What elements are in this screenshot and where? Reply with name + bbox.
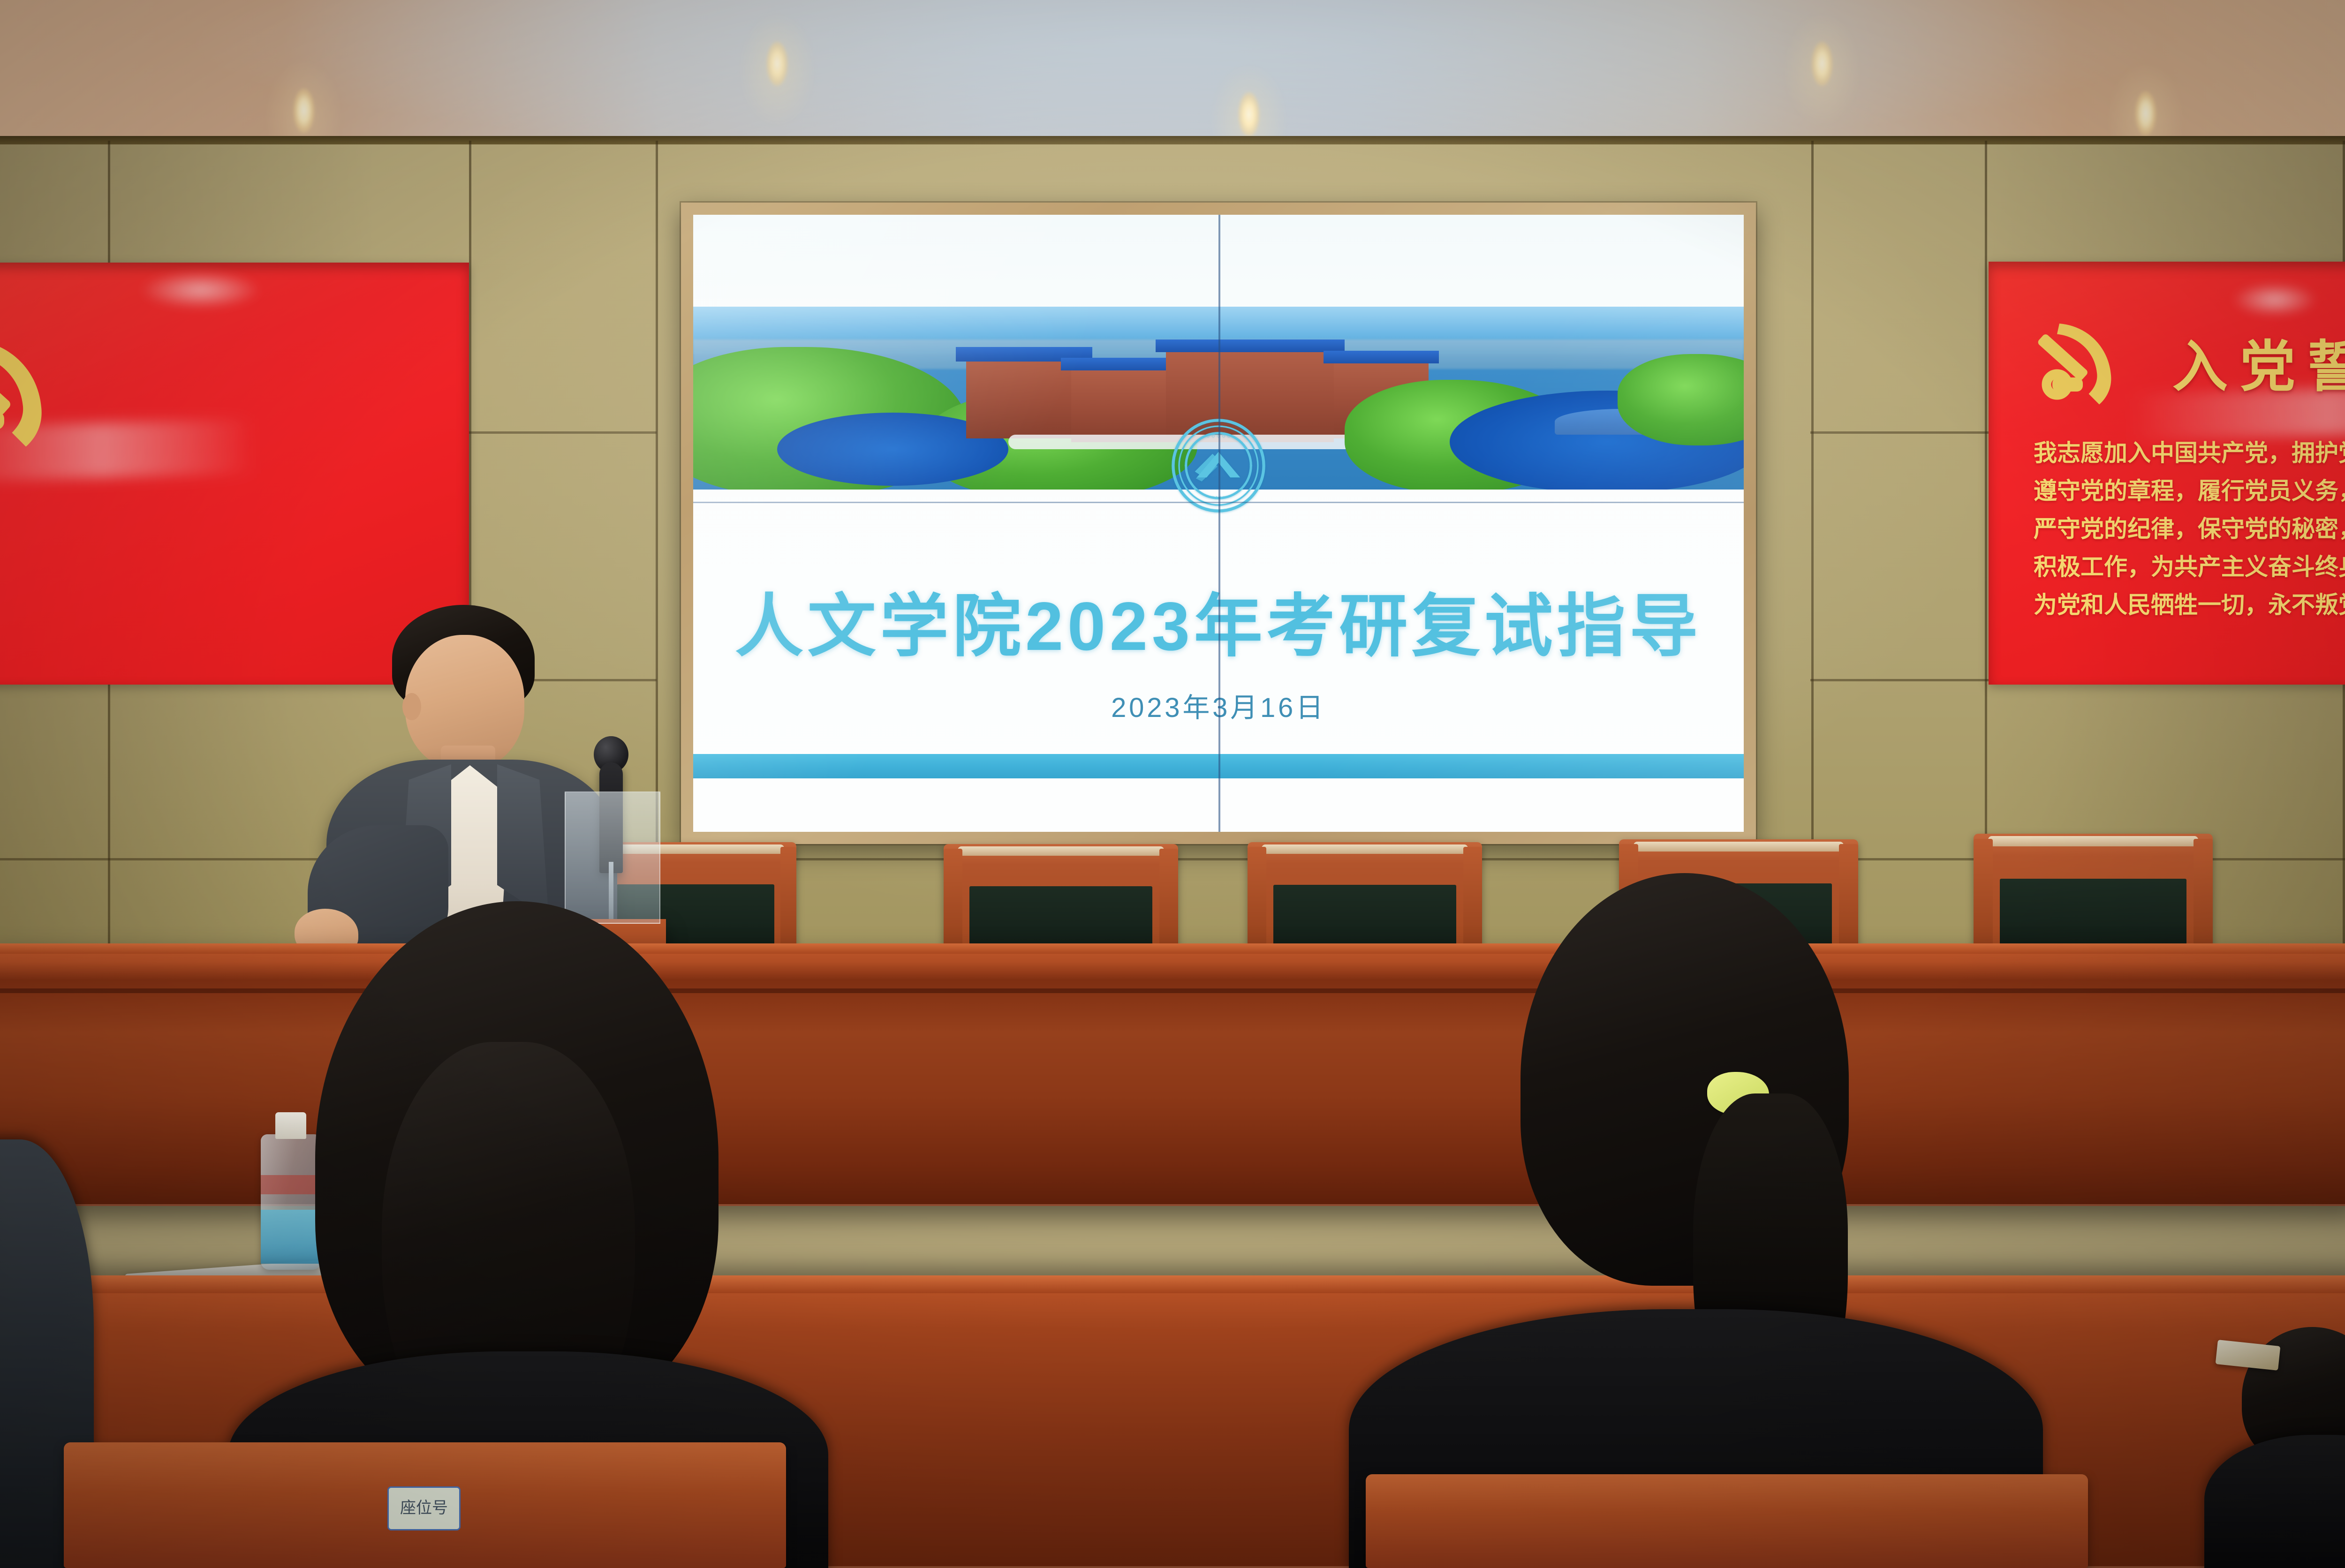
chair-crest [1988,836,2199,846]
photo-roof [1324,351,1439,363]
seat-number-sticker: 座位号 [387,1486,461,1530]
ceiling-downlight [1811,41,1833,86]
audience-shoulders [2204,1435,2345,1568]
oath-line: 严守党的纪律，保守党的秘密，对党忠诚， [2034,510,2345,548]
hammer-and-sickle-icon [2024,305,2141,422]
chair-crest [958,846,1164,856]
party-oath-text: 我志愿加入中国共产党，拥护党的纲领， 遵守党的章程，履行党员义务，执行党的决定，… [2034,434,2345,624]
banner-glare [141,271,260,309]
banner-glare [2232,283,2317,317]
party-banner-right-title: 入党誓词 [2172,322,2345,402]
ceiling-downlight [293,88,315,133]
audience-seat-back[interactable] [1366,1474,2088,1568]
photo-roof [1156,339,1345,352]
photo-building [1071,365,1176,442]
chair-crest [1262,844,1468,854]
video-wall-display[interactable]: ○ ○ ○ ○ ○ · · · · · · 人文学院2023年考研复试指导 20… [693,215,1744,832]
ceiling-glow [0,0,2345,141]
video-wall-frame: ○ ○ ○ ○ ○ · · · · · · 人文学院2023年考研复试指导 20… [681,203,1756,844]
audience-member-front-right [1358,873,2080,1568]
ceiling-downlight [1238,92,1260,137]
video-wall-seam [1218,215,1220,832]
oath-line: 我志愿加入中国共产党，拥护党的纲领， [2034,434,2345,472]
party-banner-right: 入党誓词 我志愿加入中国共产党，拥护党的纲领， 遵守党的章程，履行党员义务，执行… [1989,262,2345,685]
ceiling-downlight [2135,91,2156,136]
oath-line: 积极工作，为共产主义奋斗终身，随时准备 [2034,548,2345,586]
video-wall-seam [693,502,1744,503]
speaker-ear [402,693,421,720]
hammer-and-sickle-icon [0,315,82,470]
presentation-slide: ○ ○ ○ ○ ○ · · · · · · 人文学院2023年考研复试指导 20… [693,215,1744,832]
ceiling-downlight [766,41,788,86]
audience-seat-back[interactable]: 座位号 [64,1442,786,1568]
oath-line: 为党和人民牺牲一切，永不叛党。 [2034,586,2345,624]
conference-hall-photo: 入党誓词 我志愿加入中国共产党，拥护党的纲领， 遵守党的章程，履行党员义务，执行… [0,0,2345,1568]
oath-line: 遵守党的章程，履行党员义务，执行党的决定， [2034,472,2345,510]
chair-crest [1634,842,1844,852]
